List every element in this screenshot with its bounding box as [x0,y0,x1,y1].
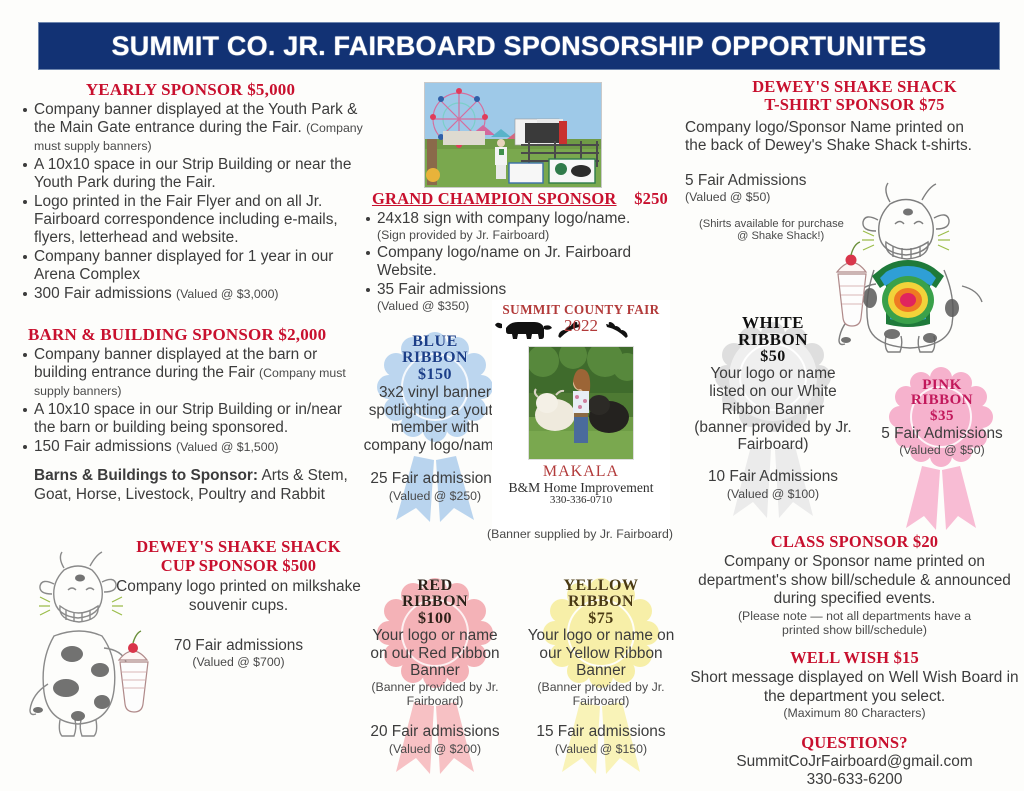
list-item: 150 Fair admissions (Valued @ $1,500) [34,438,363,456]
questions-email[interactable]: SummitCoJrFairboard@gmail.com [685,753,1024,771]
red-ribbon-note: (Banner provided by Jr. Fairboard) [362,680,508,710]
list-item: A 10x10 space in our Strip Building or n… [34,156,363,192]
bullet-note: (Valued @ $3,000) [176,287,279,301]
cup-sponsor-title-line1: DEWEY'S SHAKE SHACK [114,538,363,556]
barn-building-sponsor-list: Company banner displayed at the barn or … [18,346,363,456]
pink-ribbon-name-line2: RIBBON [866,393,1018,408]
white-ribbon-admissions: 10 Fair Admissions [693,468,853,486]
right-bottom-sections: CLASS SPONSOR $20 Company or Sponsor nam… [685,533,1024,790]
tshirt-sponsor-body: Company logo/Sponsor Name printed on the… [685,119,985,156]
banner-member-photo [528,346,634,460]
banner-sample-card: SUMMIT COUNTY FAIR [492,300,670,532]
questions-section: QUESTIONS? SummitCoJrFairboard@gmail.com… [685,734,1024,789]
pink-ribbon-name-line1: PINK [866,378,1018,393]
cup-sponsor-admissions: 70 Fair admissions [114,637,363,655]
cup-sponsor-section: DEWEY'S SHAKE SHACK CUP SPONSOR $500 Com… [18,538,363,748]
cup-sponsor-valued: (Valued @ $700) [114,655,363,669]
page-title: SUMMIT CO. JR. FAIRBOARD SPONSORSHIP OPP… [112,31,927,62]
list-item: Company logo/name on Jr. Fairboard Websi… [377,244,685,280]
yellow-ribbon-price: $75 [526,611,676,627]
banner-year: 2022 [492,316,670,336]
white-ribbon-note: (banner provided by Jr. Fairboard) [693,419,853,455]
yellow-ribbon-admissions: 15 Fair admissions [526,723,676,741]
bullet-text: 35 Fair admissions [377,281,506,298]
red-ribbon-name-line2: RIBBON [362,594,508,610]
pink-ribbon-price: $35 [866,409,1018,424]
list-item: Company banner displayed at the barn or … [34,346,363,400]
red-ribbon-price: $100 [362,611,508,627]
yellow-ribbon-note: (Banner provided by Jr. Fairboard) [526,680,676,710]
cow-in-tie-dye-shirt-icon [830,168,1010,358]
white-ribbon-name-line1: WHITE [693,314,853,331]
white-ribbon-name-line2: RIBBON [693,331,853,348]
blue-ribbon-rosette: BLUE RIBBON $150 3x2 vinyl banner spotli… [362,316,508,534]
bullet-text: Company logo/name on Jr. Fairboard Websi… [377,244,631,279]
tshirt-sponsor-title-line1: DEWEY'S SHAKE SHACK [685,78,1024,96]
grand-champion-title-row: GRAND CHAMPION SPONSOR $250 [355,190,685,208]
class-sponsor-title: CLASS SPONSOR $20 [685,533,1024,551]
middle-column: GRAND CHAMPION SPONSOR $250 24x18 sign w… [355,78,685,314]
yearly-sponsor-section: YEARLY SPONSOR $5,000 Company banner dis… [18,80,363,303]
class-sponsor-section: CLASS SPONSOR $20 Company or Sponsor nam… [685,533,1024,637]
questions-title: QUESTIONS? [685,734,1024,752]
pink-ribbon-rosette: PINK RIBBON $35 5 Fair Admissions (Value… [866,356,1018,536]
blue-ribbon-name-line1: BLUE [362,334,508,350]
left-column: YEARLY SPONSOR $5,000 Company banner dis… [18,80,363,748]
class-sponsor-body: Company or Sponsor name printed on depar… [685,553,1024,608]
red-ribbon-rosette: RED RIBBON $100 Your logo or name on our… [362,562,508,786]
bullet-text: Logo printed in the Fair Flyer and on al… [34,193,338,246]
list-item: 24x18 sign with company logo/name. (Sign… [377,210,685,242]
blue-ribbon-admissions: 25 Fair admissions [362,470,508,488]
bullet-text: A 10x10 space in our Strip Building or n… [34,156,351,191]
barns-to-sponsor-line: Barns & Buildings to Sponsor: Arts & Ste… [18,467,363,504]
blue-ribbon-name-line2: RIBBON [362,350,508,366]
blue-ribbon-valued: (Valued @ $250) [362,489,508,503]
yearly-sponsor-list: Company banner displayed at the Youth Pa… [18,101,363,303]
questions-phone[interactable]: 330-633-6200 [685,771,1024,789]
list-item: 300 Fair admissions (Valued @ $3,000) [34,285,363,303]
blue-ribbon-body: 3x2 vinyl banner spotlighting a youth me… [362,384,508,454]
cup-sponsor-title-line2: CUP SPONSOR $500 [114,557,363,575]
bullet-text: 150 Fair admissions [34,438,172,455]
barn-building-sponsor-title: BARN & BUILDING SPONSOR $2,000 [18,325,363,344]
page-header-bar: SUMMIT CO. JR. FAIRBOARD SPONSORSHIP OPP… [38,22,1000,70]
well-wish-body: Short message displayed on Well Wish Boa… [685,669,1024,706]
white-ribbon-rosette: WHITE RIBBON $50 Your logo or name liste… [693,306,853,532]
yellow-ribbon-name-line2: RIBBON [526,594,676,610]
list-item: A 10x10 space in our Strip Building or i… [34,401,363,437]
list-item: Company banner displayed at the Youth Pa… [34,101,363,155]
tshirt-sponsor-title-line2: T-SHIRT SPONSOR $75 [685,96,1024,114]
white-ribbon-body: Your logo or name listed on our White Ri… [693,365,853,419]
well-wish-section: WELL WISH $15 Short message displayed on… [685,649,1024,720]
class-sponsor-note-line1: (Please note — not all departments have … [685,609,1024,623]
list-item: Logo printed in the Fair Flyer and on al… [34,193,363,247]
barn-building-sponsor-section: BARN & BUILDING SPONSOR $2,000 Company b… [18,325,363,504]
bullet-text: 24x18 sign with company logo/name. [377,210,630,227]
white-ribbon-price: $50 [693,349,853,365]
barns-to-sponsor-label: Barns & Buildings to Sponsor: [34,467,258,484]
grand-champion-title: GRAND CHAMPION SPONSOR [372,189,617,208]
red-ribbon-valued: (Valued @ $200) [362,742,508,756]
red-ribbon-body: Your logo or name on our Red Ribbon Bann… [362,627,508,680]
bullet-text: Company banner displayed for 1 year in o… [34,248,333,283]
pink-ribbon-admissions: 5 Fair Admissions [866,425,1018,443]
yellow-ribbon-valued: (Valued @ $150) [526,742,676,756]
yellow-ribbon-name-line1: YELLOW [526,578,676,594]
white-ribbon-valued: (Valued @ $100) [693,487,853,501]
pink-ribbon-valued: (Valued @ $50) [866,443,1018,457]
bullet-note: (Sign provided by Jr. Fairboard) [377,228,685,242]
well-wish-title: WELL WISH $15 [685,649,1024,667]
banner-caption: (Banner supplied by Jr. Fairboard) [455,527,705,541]
bullet-note: (Valued @ $1,500) [176,440,279,454]
banner-member-name: MAKALA [492,463,670,481]
grand-champion-price: $250 [634,189,668,208]
class-sponsor-note-line2: printed show bill/schedule) [685,623,1024,637]
grand-champion-section: GRAND CHAMPION SPONSOR $250 24x18 sign w… [355,190,685,313]
yellow-ribbon-body: Your logo or name on our Yellow Ribbon B… [526,627,676,680]
flyer-page: SUMMIT CO. JR. FAIRBOARD SPONSORSHIP OPP… [0,0,1024,791]
well-wish-note: (Maximum 80 Characters) [685,706,1024,720]
cup-sponsor-body: Company logo printed on milkshake souven… [114,578,363,615]
bullet-text: A 10x10 space in our Strip Building or i… [34,401,342,436]
list-item: Company banner displayed for 1 year in o… [34,248,363,284]
bullet-text: 300 Fair admissions [34,285,172,302]
red-ribbon-admissions: 20 Fair admissions [362,723,508,741]
yellow-ribbon-rosette: YELLOW RIBBON $75 Your logo or name on o… [526,562,676,786]
grand-champion-list: 24x18 sign with company logo/name. (Sign… [355,210,685,313]
yearly-sponsor-title: YEARLY SPONSOR $5,000 [18,80,363,99]
blue-ribbon-price: $150 [362,367,508,383]
red-ribbon-name-line1: RED [362,578,508,594]
